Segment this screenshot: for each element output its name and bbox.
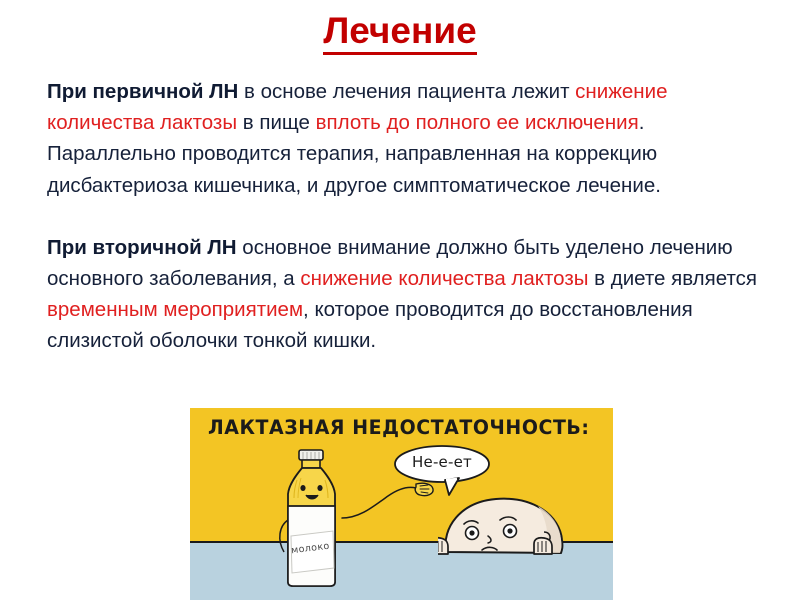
milk-bottle-character: молоко	[275, 448, 347, 588]
title-container: Лечение	[0, 12, 800, 55]
cartoon-caption: ЛАКТАЗНАЯ НЕДОСТАТОЧНОСТЬ:	[208, 416, 590, 439]
paragraph-secondary: При вторичной ЛН основное внимание должн…	[47, 232, 759, 357]
page-title: Лечение	[323, 12, 476, 55]
run-p1-normal-1: в основе лечения пациента лежит	[238, 80, 575, 103]
paragraph-primary: При первичной ЛН в основе лечения пациен…	[47, 76, 759, 201]
run-p1-normal-2: в пище	[237, 111, 316, 134]
run-p2-bold-1: При вторичной ЛН	[47, 236, 237, 259]
baby-character	[438, 490, 598, 568]
speech-bubble: Не-е-ет	[393, 444, 503, 496]
body-text-block: При первичной ЛН в основе лечения пациен…	[47, 76, 759, 357]
run-p1-red-2: вплоть до полного ее исключения	[316, 111, 639, 134]
baby-head-icon	[438, 490, 598, 568]
run-p2-red-2: временным мероприятием	[47, 298, 303, 321]
milk-bottle-icon	[275, 448, 347, 588]
lactose-intolerance-cartoon: ЛАКТАЗНАЯ НЕДОСТАТОЧНОСТЬ:	[190, 408, 613, 600]
slide: Лечение При первичной ЛН в основе лечени…	[0, 0, 800, 600]
run-p2-normal-2: в диете является	[588, 267, 756, 290]
run-p2-red-1: снижение количества лактозы	[300, 267, 588, 290]
run-p1-bold-1: При первичной ЛН	[47, 80, 238, 103]
speech-bubble-text: Не-е-ет	[393, 453, 491, 471]
